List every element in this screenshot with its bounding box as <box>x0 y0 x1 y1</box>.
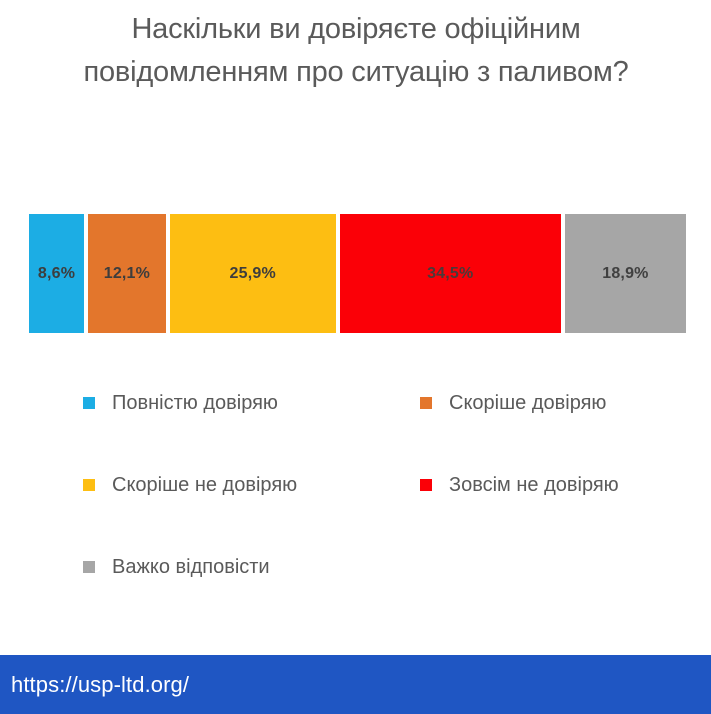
legend-item-label: Повністю довіряю <box>112 392 278 414</box>
legend-swatch-icon <box>83 479 95 491</box>
bar-segment-label: 18,9% <box>602 265 648 283</box>
legend-swatch-icon <box>420 397 432 409</box>
bar-segment-label: 34,5% <box>427 265 473 283</box>
legend-item-rather-trust[interactable]: Скоріше довіряю <box>420 386 606 420</box>
legend-swatch-icon <box>83 397 95 409</box>
bar-segment-label: 8,6% <box>38 265 75 283</box>
legend-item-hard-to-say[interactable]: Важко відповісти <box>83 550 270 584</box>
chart-legend: Повністю довіряю Скоріше довіряю Скоріше… <box>0 386 711 606</box>
bar-segment-label: 25,9% <box>230 265 276 283</box>
footer-url-bar: https://usp-ltd.org/ <box>0 655 711 714</box>
legend-item-fully-distrust[interactable]: Зовсім не довіряю <box>420 468 619 502</box>
legend-swatch-icon <box>83 561 95 573</box>
legend-item-fully-trust[interactable]: Повністю довіряю <box>83 386 278 420</box>
legend-item-label: Зовсім не довіряю <box>449 474 619 496</box>
legend-item-label: Скоріше не довіряю <box>112 474 297 496</box>
legend-item-label: Важко відповісти <box>112 556 270 578</box>
chart-title: Наскільки ви довіряєте офіційним повідом… <box>62 8 650 94</box>
footer-url-link[interactable]: https://usp-ltd.org/ <box>11 672 189 698</box>
bar-segment-rather-trust[interactable]: 12,1% <box>88 214 166 333</box>
stacked-bar-chart: 8,6% 12,1% 25,9% 34,5% 18,9% <box>29 214 686 333</box>
bar-segment-hard-to-say[interactable]: 18,9% <box>565 214 686 333</box>
bar-segment-label: 12,1% <box>104 265 150 283</box>
bar-segment-fully-trust[interactable]: 8,6% <box>29 214 84 333</box>
legend-swatch-icon <box>420 479 432 491</box>
bar-segment-rather-distrust[interactable]: 25,9% <box>170 214 336 333</box>
legend-item-label: Скоріше довіряю <box>449 392 606 414</box>
legend-item-rather-distrust[interactable]: Скоріше не довіряю <box>83 468 297 502</box>
bar-segment-fully-distrust[interactable]: 34,5% <box>340 214 561 333</box>
